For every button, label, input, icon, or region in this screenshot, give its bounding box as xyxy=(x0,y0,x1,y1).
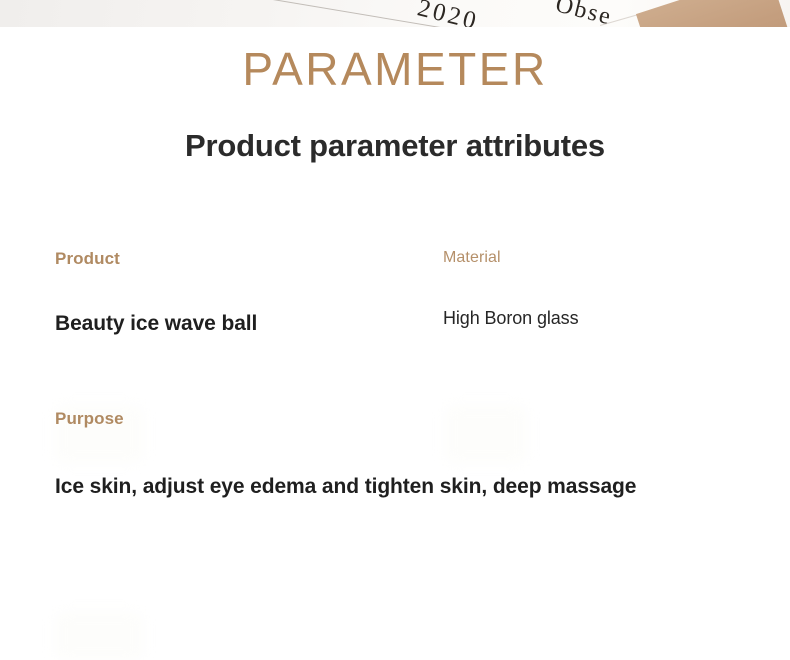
spec-item-material: Material High Boron glass xyxy=(443,250,578,329)
page-title: PARAMETER xyxy=(0,46,790,92)
product-parameter-page: 2020 Obse PARAMETER Product parameter at… xyxy=(0,0,790,660)
spec-label: Product xyxy=(55,250,257,267)
spec-value: Ice skin, adjust eye edema and tighten s… xyxy=(55,475,636,499)
spec-row: Product Beauty ice wave ball Material Hi… xyxy=(0,250,790,410)
spec-label: Purpose xyxy=(55,410,636,427)
spec-value: Beauty ice wave ball xyxy=(55,312,257,336)
spec-value: High Boron glass xyxy=(443,308,578,329)
blurred-placeholder-bottom xyxy=(55,612,143,660)
spec-label: Material xyxy=(443,250,578,266)
spec-row: Purpose Ice skin, adjust eye edema and t… xyxy=(0,410,790,530)
page-subtitle: Product parameter attributes xyxy=(0,129,790,163)
top-photo-banner: 2020 Obse xyxy=(0,0,790,27)
specification-list: Product Beauty ice wave ball Material Hi… xyxy=(0,250,790,530)
spec-item-product: Product Beauty ice wave ball xyxy=(55,250,257,336)
spec-item-purpose: Purpose Ice skin, adjust eye edema and t… xyxy=(55,410,636,499)
